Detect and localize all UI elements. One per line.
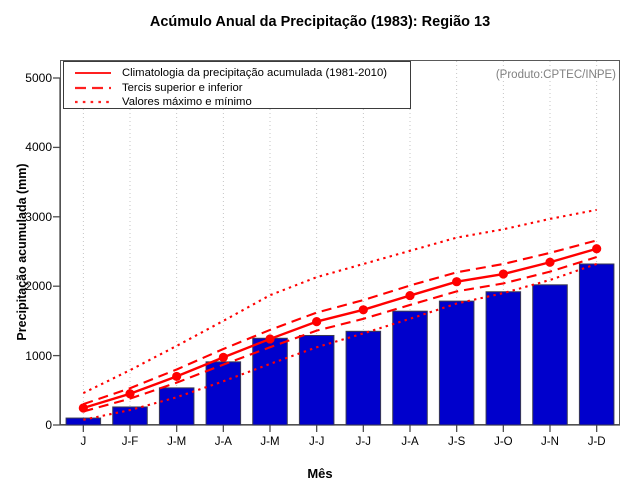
x-tick-label: J-F	[107, 436, 153, 448]
legend-item-climatologia: Climatologia da precipitação acumulada (…	[64, 66, 410, 81]
y-tick-label: 3000	[8, 210, 52, 224]
legend-swatch-solid-icon	[70, 67, 116, 79]
chart-root: Acúmulo Anual da Precipitação (1983): Re…	[0, 0, 640, 500]
x-tick-label: J-J	[340, 436, 386, 448]
x-tick-label: J-A	[387, 436, 433, 448]
legend-item-valores: Valores máximo e mínimo	[64, 95, 410, 110]
producer-annotation: (Produto:CPTEC/INPE)	[496, 69, 616, 81]
x-tick-label: J-M	[154, 436, 200, 448]
x-tick-label: J-M	[247, 436, 293, 448]
legend-label: Climatologia da precipitação acumulada (…	[122, 67, 387, 79]
y-tick-label: 2000	[8, 279, 52, 293]
y-tick-label: 4000	[8, 140, 52, 154]
x-tick-label: J-A	[200, 436, 246, 448]
legend-item-tercis: Tercis superior e inferior	[64, 81, 410, 96]
x-tick-label: J-J	[294, 436, 340, 448]
x-tick-label: J	[60, 436, 106, 448]
legend-swatch-dotted-icon	[70, 96, 116, 108]
legend-label: Tercis superior e inferior	[122, 82, 243, 94]
x-tick-label: J-D	[574, 436, 620, 448]
y-tick-label: 5000	[8, 71, 52, 85]
x-tick-label: J-O	[480, 436, 526, 448]
y-tick-label: 0	[8, 418, 52, 432]
x-tick-label: J-S	[434, 436, 480, 448]
legend-label: Valores máximo e mínimo	[122, 96, 252, 108]
x-tick-label: J-N	[527, 436, 573, 448]
legend-swatch-dashed-icon	[70, 82, 116, 94]
chart-legend: Climatologia da precipitação acumulada (…	[63, 61, 411, 109]
y-tick-label: 1000	[8, 349, 52, 363]
